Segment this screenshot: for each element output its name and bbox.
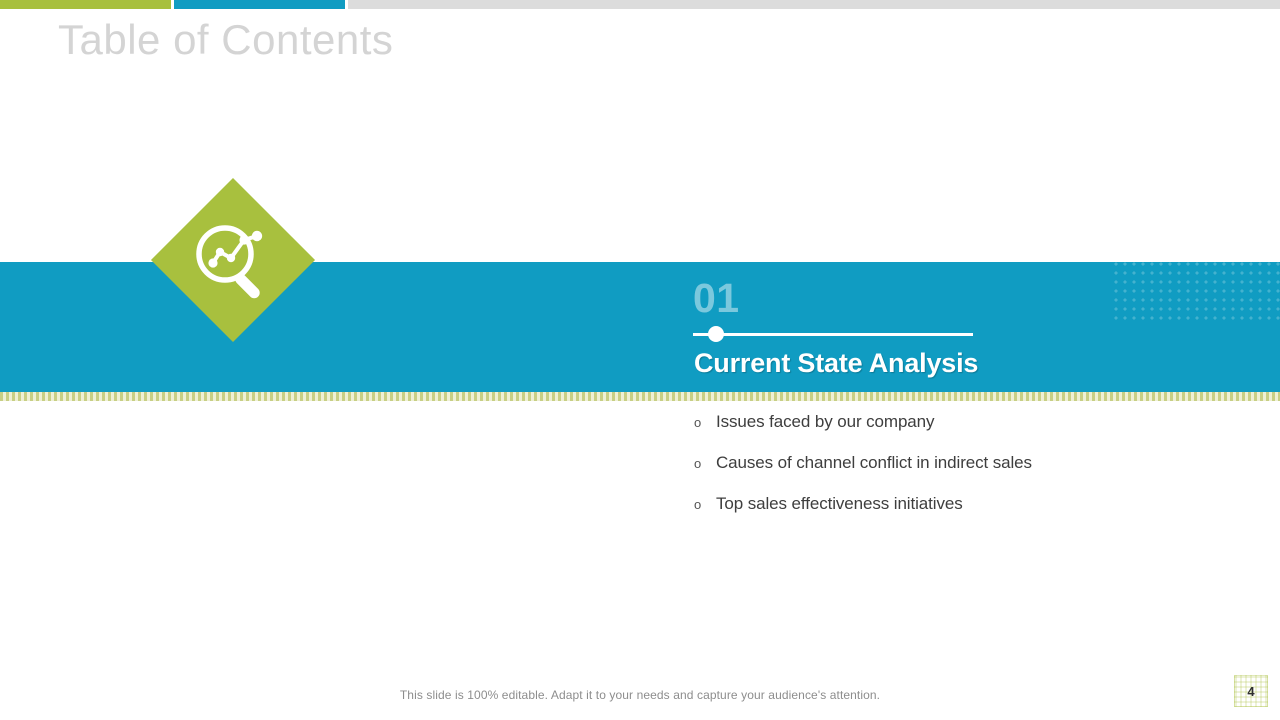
section-number: 01 [693, 278, 740, 319]
slide-canvas: Table of Contents 01 Current State Analy… [0, 0, 1280, 720]
banner-striped-divider [0, 392, 1280, 401]
banner-dot-pattern [1114, 262, 1280, 320]
section-heading: Current State Analysis [694, 348, 978, 379]
top-bar-segment-gray [348, 0, 1280, 9]
bullet-circle-icon: o [694, 498, 716, 511]
list-item: o Issues faced by our company [694, 412, 1234, 453]
magnifier-analytics-icon [187, 218, 279, 310]
top-bar-segment-blue [174, 0, 345, 9]
bullet-circle-icon: o [694, 416, 716, 429]
list-item-label: Issues faced by our company [716, 412, 934, 432]
list-item-label: Top sales effectiveness initiatives [716, 494, 963, 514]
list-item: o Top sales effectiveness initiatives [694, 494, 1234, 535]
footer-note: This slide is 100% editable. Adapt it to… [0, 688, 1280, 702]
section-rule-dot [708, 326, 724, 342]
section-diamond-badge [151, 178, 315, 342]
section-bullet-list: o Issues faced by our company o Causes o… [694, 412, 1234, 535]
section-rule [693, 333, 973, 336]
page-title: Table of Contents [58, 16, 393, 64]
top-bar-segment-green [0, 0, 171, 9]
page-number-value: 4 [1247, 684, 1254, 699]
top-accent-bar [0, 0, 1280, 9]
list-item: o Causes of channel conflict in indirect… [694, 453, 1234, 494]
list-item-label: Causes of channel conflict in indirect s… [716, 453, 1032, 473]
page-number-badge: 4 [1234, 675, 1268, 707]
bullet-circle-icon: o [694, 457, 716, 470]
